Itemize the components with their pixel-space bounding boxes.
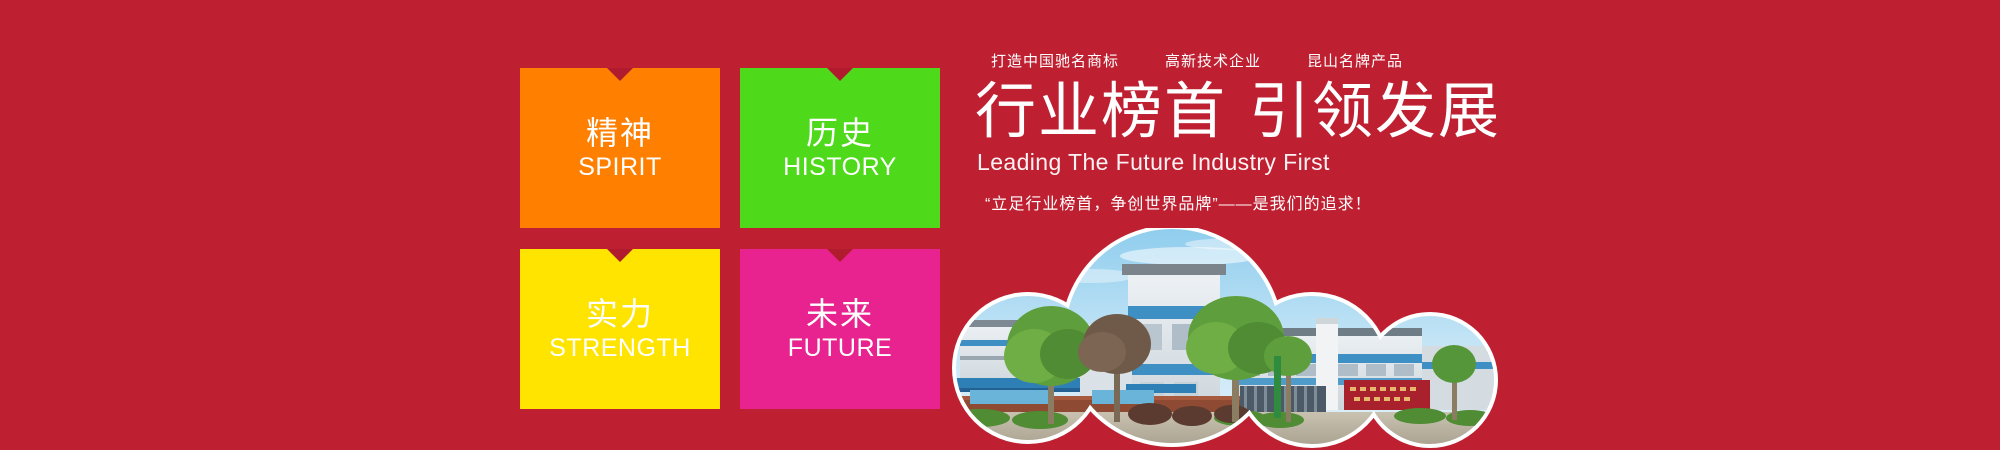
credential-list: 打造中国驰名商标 高新技术企业 昆山名牌产品 — [991, 50, 1615, 71]
tile-label-cn: 精神 — [586, 117, 654, 149]
photo-content — [940, 228, 1540, 450]
headline-copy-block: 打造中国驰名商标 高新技术企业 昆山名牌产品 行业榜首引领发展 Leading … — [975, 50, 1615, 214]
promo-banner: 精神 SPIRIT 历史 HISTORY 实力 STRENGTH 未来 FUTU… — [0, 0, 2000, 450]
tile-future[interactable]: 未来 FUTURE — [740, 249, 940, 409]
factory-photo — [940, 228, 1540, 450]
tile-history[interactable]: 历史 HISTORY — [740, 68, 940, 228]
notch-icon — [827, 68, 853, 81]
notch-icon — [607, 249, 633, 262]
tile-label-en: STRENGTH — [549, 336, 691, 361]
tile-label-cn: 未来 — [806, 298, 874, 330]
credential-item-0: 打造中国驰名商标 — [991, 50, 1119, 71]
headline-part-right: 引领发展 — [1249, 77, 1501, 145]
tile-label-en: SPIRIT — [578, 155, 662, 180]
headline-part-left: 行业榜首 — [975, 77, 1227, 145]
notch-icon — [827, 249, 853, 262]
tile-spirit[interactable]: 精神 SPIRIT — [520, 68, 720, 228]
cloud-photo-svg — [940, 228, 1540, 450]
credential-item-2: 昆山名牌产品 — [1307, 50, 1403, 71]
tile-label-cn: 历史 — [806, 117, 874, 149]
tagline: “立足行业榜首，争创世界品牌”——是我们的追求！ — [985, 190, 1615, 214]
tile-label-en: HISTORY — [783, 155, 897, 180]
notch-icon — [607, 68, 633, 81]
page-title: 行业榜首引领发展 — [975, 79, 1615, 143]
credential-item-1: 高新技术企业 — [1165, 50, 1261, 71]
subtitle: Leading The Future Industry First — [977, 149, 1615, 176]
tile-strength[interactable]: 实力 STRENGTH — [520, 249, 720, 409]
tile-label-cn: 实力 — [586, 298, 654, 330]
value-tile-grid: 精神 SPIRIT 历史 HISTORY 实力 STRENGTH 未来 FUTU… — [520, 68, 940, 409]
tile-label-en: FUTURE — [788, 336, 892, 361]
